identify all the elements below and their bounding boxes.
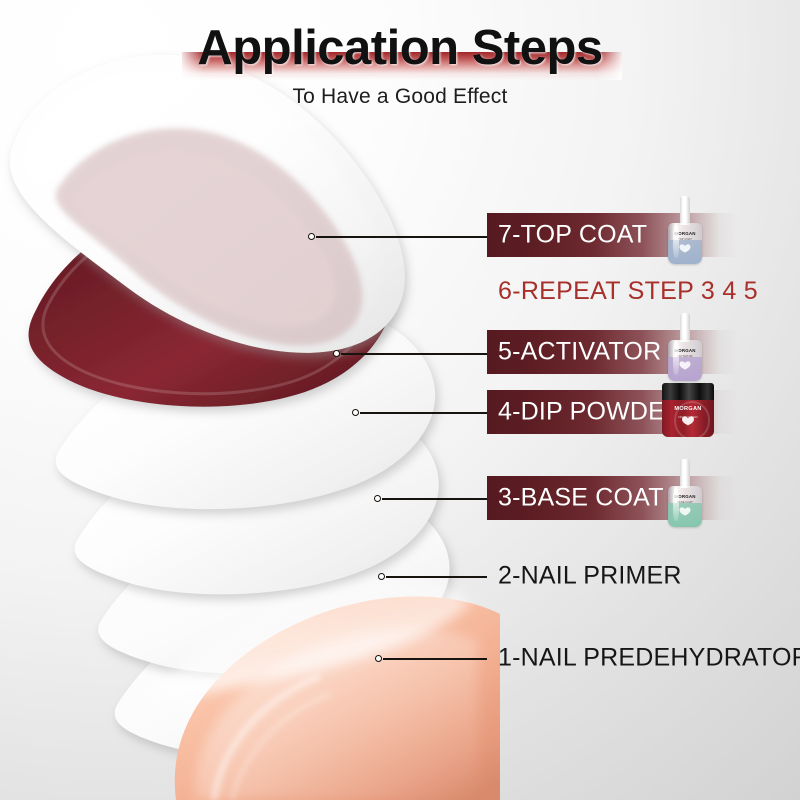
bottle-body: MORGANBASE COAT (668, 486, 702, 527)
steps-list: 7-TOP COATMORGANTOP COAT6-REPEAT STEP 3 … (0, 0, 800, 800)
leader-dot-step-5 (333, 350, 340, 357)
step-label-step-2: 2-NAIL PRIMER (498, 562, 682, 591)
leader-line-step-2 (378, 570, 487, 584)
infographic-canvas: Application Steps To Have a Good Effect … (0, 0, 800, 800)
leader-stroke-step-1 (383, 658, 487, 660)
bottle-gloss (673, 342, 678, 375)
step-label-step-3: 3-BASE COAT (498, 484, 664, 513)
leader-dot-step-4 (352, 409, 359, 416)
bottle-cap (680, 313, 690, 342)
butterfly-logo-icon (679, 503, 691, 521)
step-label-step-6[interactable]: 6-REPEAT STEP 3 4 5 (498, 277, 758, 306)
step-row-step-2[interactable]: 2-NAIL PRIMER (487, 554, 787, 598)
leader-dot-step-7 (308, 233, 315, 240)
leader-line-step-1 (375, 652, 487, 666)
leader-stroke-step-2 (386, 576, 487, 578)
leader-stroke-step-3 (382, 498, 487, 500)
leader-line-step-7 (308, 230, 487, 244)
butterfly-logo-icon (682, 413, 695, 431)
leader-line-step-4 (352, 406, 487, 420)
activator-bottle[interactable]: MORGANACTIVATOR (668, 313, 702, 381)
leader-stroke-step-5 (341, 353, 487, 355)
base-coat-bottle[interactable]: MORGANBASE COAT (668, 459, 702, 527)
leader-line-step-5 (333, 347, 487, 361)
leader-line-step-3 (374, 492, 487, 506)
leader-dot-step-2 (378, 573, 385, 580)
top-coat-bottle[interactable]: MORGANTOP COAT (668, 196, 702, 264)
leader-stroke-step-4 (360, 412, 487, 414)
step-row-step-5[interactable]: 5-ACTIVATOR (487, 330, 787, 374)
step-label-step-1: 1-NAIL PREDEHYDRATOR (498, 644, 800, 673)
step-label-step-4: 4-DIP POWDER (498, 398, 683, 427)
jar-body: MORGANDIP POWDER (662, 400, 714, 437)
step-row-step-4[interactable]: 4-DIP POWDER (487, 390, 787, 434)
butterfly-logo-icon (679, 357, 691, 375)
step-row-step-1[interactable]: 1-NAIL PREDEHYDRATOR (487, 636, 787, 680)
bottle-gloss (673, 225, 678, 258)
butterfly-logo-icon (679, 240, 691, 258)
bottle-cap (680, 196, 690, 225)
bottle-cap (680, 459, 690, 488)
step-row-step-7[interactable]: 7-TOP COAT (487, 213, 787, 257)
leader-stroke-step-7 (316, 236, 487, 238)
leader-dot-step-3 (374, 495, 381, 502)
leader-dot-step-1 (375, 655, 382, 662)
bottle-body: MORGANTOP COAT (668, 223, 702, 264)
step-label-step-5: 5-ACTIVATOR (498, 338, 661, 367)
jar-brand-text: MORGAN (662, 406, 714, 412)
jar: MORGANDIP POWDER (662, 383, 714, 437)
dip-powder-jar[interactable]: MORGANDIP POWDER (662, 383, 714, 437)
jar-lid (662, 383, 714, 401)
bottle-gloss (673, 488, 678, 521)
bottle-body: MORGANACTIVATOR (668, 340, 702, 381)
step-row-step-3[interactable]: 3-BASE COAT (487, 476, 787, 520)
step-label-step-7: 7-TOP COAT (498, 221, 647, 250)
